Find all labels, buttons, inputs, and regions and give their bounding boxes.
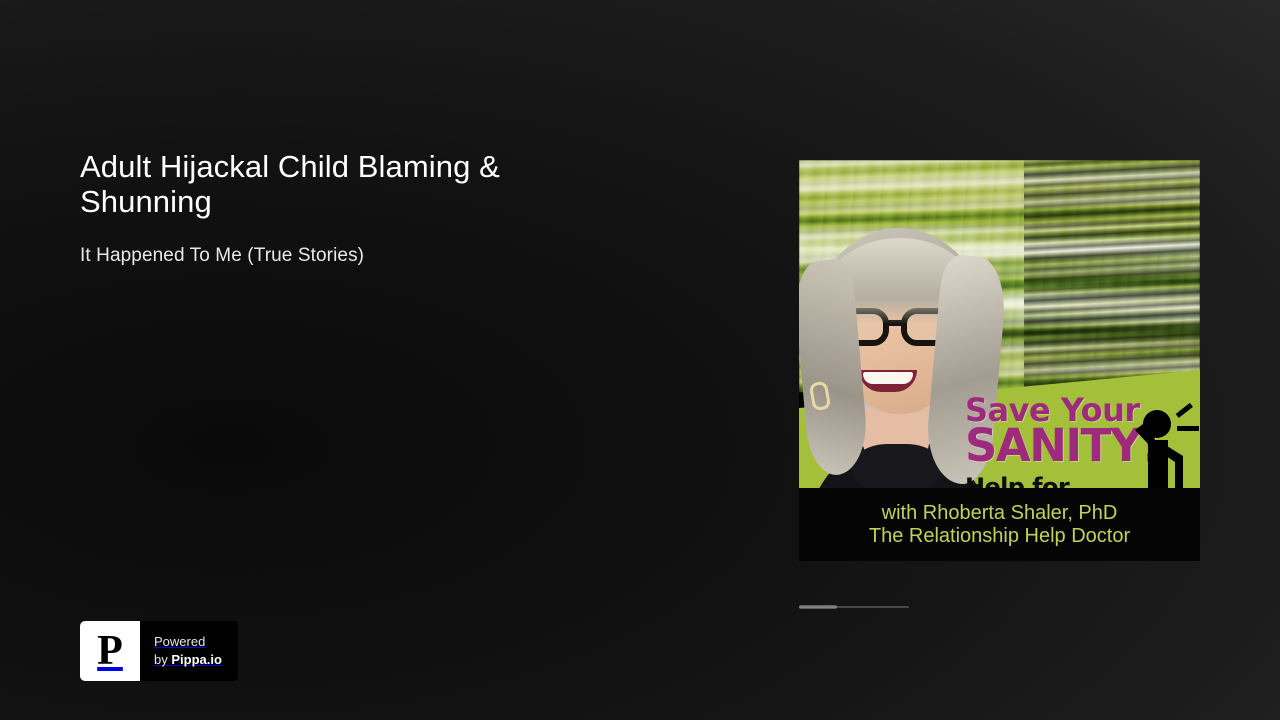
pippa-logo-icon: P — [80, 621, 140, 681]
playback-scrubber[interactable] — [799, 605, 1200, 609]
cover-art[interactable]: Save Your SANITY! Help for HANDLING HIJA… — [799, 160, 1200, 561]
podcast-player: Adult Hijackal Child Blaming & Shunning … — [0, 0, 1280, 720]
badge-brand-name: Pippa.io — [171, 652, 222, 667]
host-name-band: with Rhoberta Shaler, PhD The Relationsh… — [799, 488, 1200, 561]
badge-by-label: by — [154, 652, 171, 667]
badge-brand-label: by Pippa.io — [154, 651, 222, 669]
host-line-1: with Rhoberta Shaler, PhD — [882, 502, 1118, 524]
water-reflection-dark-overlay — [1024, 160, 1200, 392]
page-title: Adult Hijackal Child Blaming & Shunning — [80, 150, 600, 219]
show-title: It Happened To Me (True Stories) — [80, 245, 690, 268]
badge-text-block: Powered by Pippa.io — [140, 621, 238, 681]
teeth — [863, 372, 913, 384]
host-line-2: The Relationship Help Doctor — [869, 525, 1130, 547]
headline-sanity: SANITY! — [965, 425, 1147, 466]
scrubber-progress[interactable] — [799, 605, 837, 609]
powered-by-pippa-badge[interactable]: P Powered by Pippa.io — [80, 621, 238, 681]
badge-powered-label: Powered — [154, 633, 222, 651]
episode-metadata: Adult Hijackal Child Blaming & Shunning … — [80, 150, 690, 268]
turtleneck-collar — [851, 444, 943, 492]
